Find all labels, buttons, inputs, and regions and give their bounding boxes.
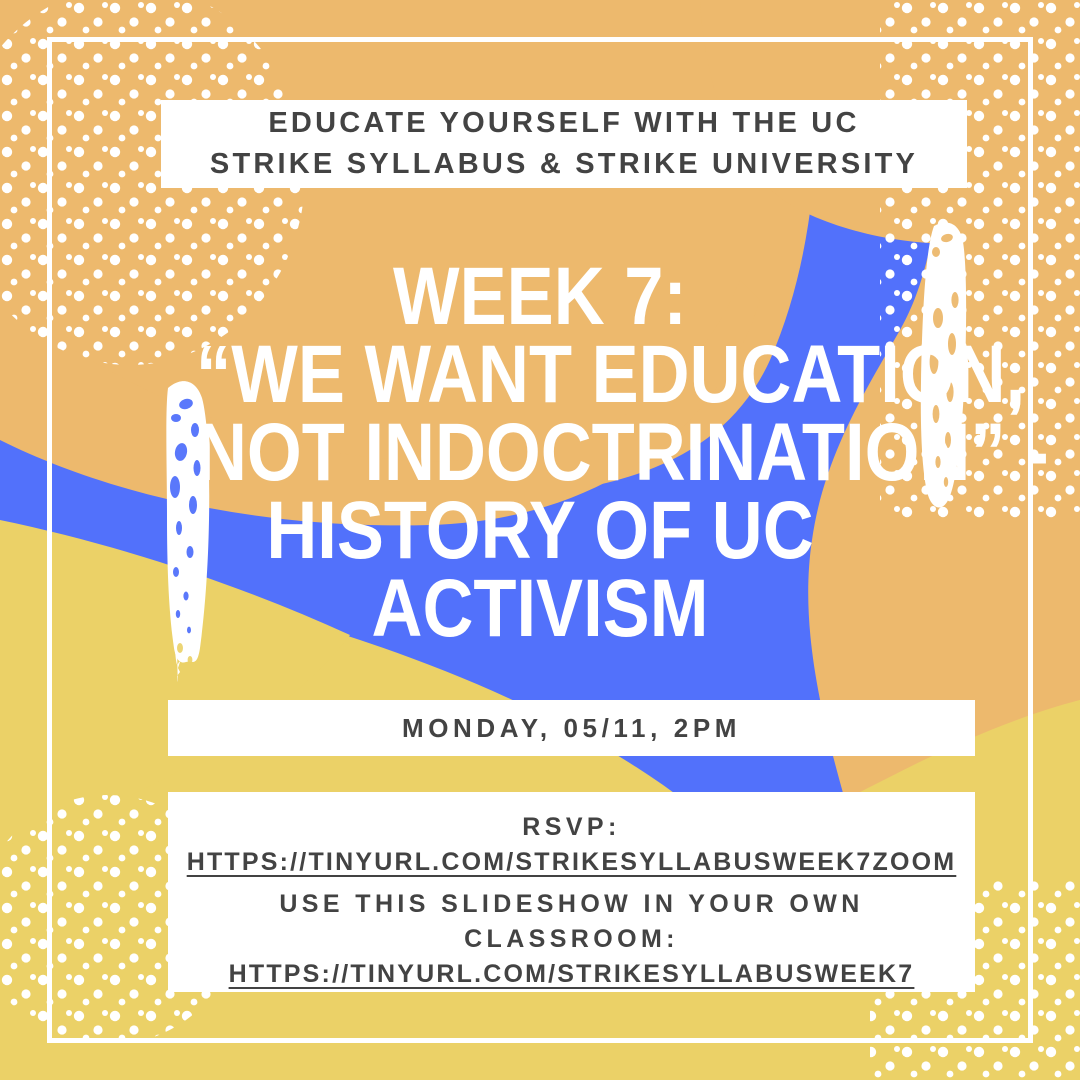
rsvp-link[interactable]: HTTPS://TINYURL.COM/STRIKESYLLABUSWEEK7Z… — [187, 845, 957, 880]
header-line-2: STRIKE SYLLABUS & STRIKE UNIVERSITY — [210, 144, 918, 185]
headline-line-1: WEEK 7: — [196, 258, 884, 336]
headline-line-2: “WE WANT EDUCATION, — [196, 336, 884, 414]
event-date-banner: MONDAY, 05/11, 2PM — [168, 700, 975, 756]
header-line-1: EDUCATE YOURSELF WITH THE UC — [268, 103, 859, 144]
slideshow-label-line-2: CLASSROOM: — [464, 922, 679, 957]
headline-line-5: ACTIVISM — [196, 570, 884, 648]
headline-line-3: NOT INDOCTRINATION” - — [196, 414, 884, 492]
header-banner: EDUCATE YOURSELF WITH THE UC STRIKE SYLL… — [161, 100, 967, 188]
slideshow-label-line-1: USE THIS SLIDESHOW IN YOUR OWN — [279, 887, 863, 922]
headline-line-4: HISTORY OF UC — [196, 492, 884, 570]
slideshow-link[interactable]: HTTPS://TINYURL.COM/STRIKESYLLABUSWEEK7 — [229, 957, 915, 992]
links-panel: RSVP: HTTPS://TINYURL.COM/STRIKESYLLABUS… — [168, 792, 975, 992]
rsvp-label: RSVP: — [522, 810, 620, 845]
headline: WEEK 7: “WE WANT EDUCATION, NOT INDOCTRI… — [196, 258, 884, 647]
event-date-text: MONDAY, 05/11, 2PM — [402, 713, 741, 744]
poster-canvas: EDUCATE YOURSELF WITH THE UC STRIKE SYLL… — [0, 0, 1080, 1080]
